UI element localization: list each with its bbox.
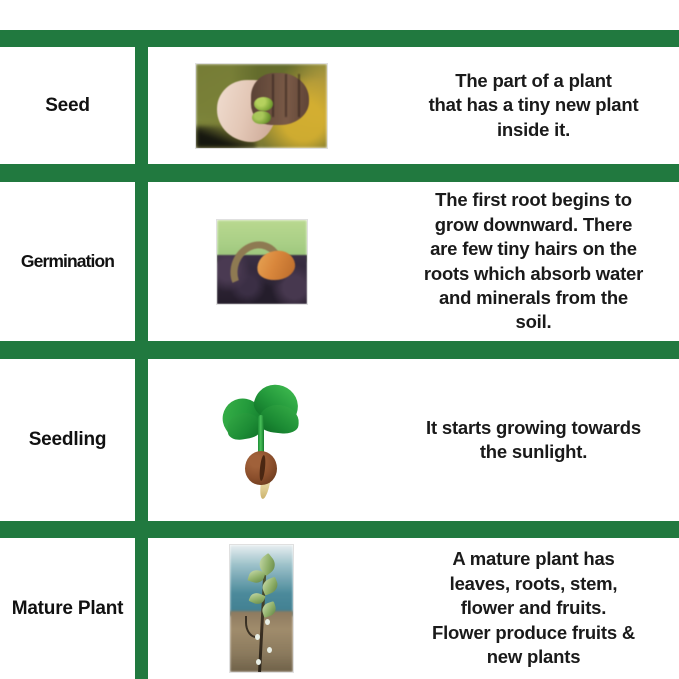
- table-row: Mature Plant A mature plant has leaves, …: [0, 538, 679, 679]
- seed-photo-icon: [196, 64, 327, 148]
- stage-name-cell: Seedling: [0, 359, 135, 521]
- stage-description-cell: The first root begins to grow downward. …: [388, 182, 679, 341]
- stage-description-cell: It starts growing towards the sunlight.: [388, 359, 679, 521]
- stage-label: Mature Plant: [12, 597, 124, 621]
- stage-description: It starts growing towards the sunlight.: [426, 416, 641, 465]
- stage-label: Seed: [45, 94, 90, 118]
- flower-shape: [267, 647, 272, 653]
- stage-image-cell: [148, 538, 375, 679]
- stage-image-cell: [148, 182, 375, 341]
- stage-description-cell: The part of a plant that has a tiny new …: [388, 47, 679, 164]
- stage-name-cell: Germination: [0, 182, 135, 341]
- table-row: Seed The part of a plant that has a tiny…: [0, 47, 679, 164]
- green-seed-shape: [252, 111, 270, 124]
- table-row: Germination The first root begins to gro…: [0, 182, 679, 341]
- stage-label: Germination: [21, 251, 114, 273]
- table-row: Seedling It starts growing towards the s…: [0, 359, 679, 521]
- stage-description: A mature plant has leaves, roots, stem, …: [432, 547, 635, 669]
- grid-line-horizontal-3: [0, 521, 679, 538]
- stage-description: The first root begins to grow downward. …: [424, 188, 643, 334]
- mature-plant-photo-icon: [230, 545, 293, 672]
- seedling-clipart-icon: [219, 381, 305, 499]
- stage-label: Seedling: [29, 428, 107, 452]
- stage-description-cell: A mature plant has leaves, roots, stem, …: [388, 538, 679, 679]
- grid-line-horizontal-top: [0, 30, 679, 47]
- stage-description: The part of a plant that has a tiny new …: [429, 69, 639, 142]
- stage-image-cell: [148, 47, 375, 164]
- grid-line-horizontal-1: [0, 164, 679, 182]
- grid-line-horizontal-2: [0, 341, 679, 359]
- finger-separator: [285, 74, 287, 118]
- germination-photo-icon: [217, 220, 307, 304]
- finger-separator: [272, 74, 274, 118]
- stage-name-cell: Seed: [0, 47, 135, 164]
- stage-name-cell: Mature Plant: [0, 538, 135, 679]
- stage-image-cell: [148, 359, 375, 521]
- flower-shape: [265, 619, 270, 625]
- plant-life-cycle-table: Seed The part of a plant that has a tiny…: [0, 0, 679, 679]
- finger-separator: [298, 74, 300, 118]
